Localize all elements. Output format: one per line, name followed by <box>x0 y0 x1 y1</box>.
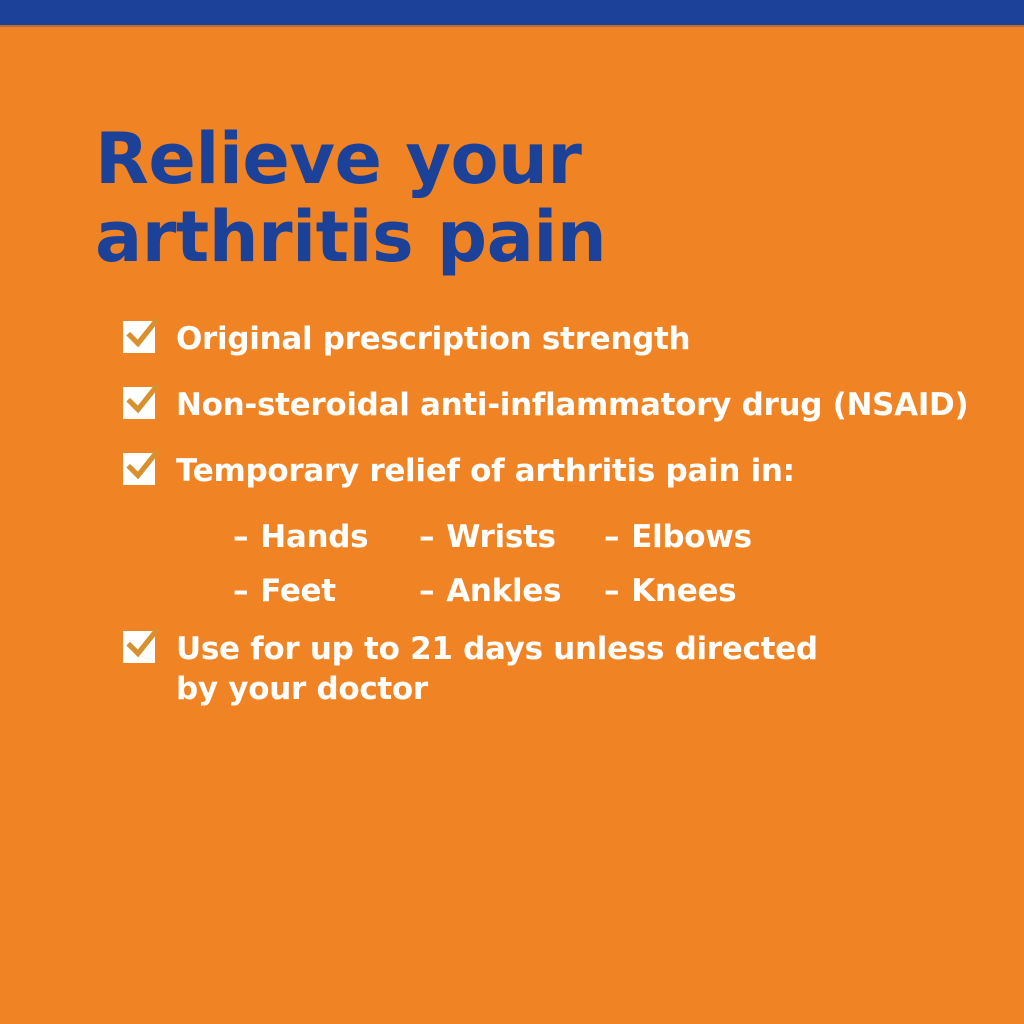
body-part-feet: –Feet <box>233 571 419 611</box>
checklist-item-label: Temporary relief of arthritis pain in: <box>176 451 983 491</box>
checklist-item-temporary-relief: Temporary relief of arthritis pain in: <box>123 451 983 491</box>
body-part-label: Hands <box>260 519 368 555</box>
body-part-wrists: –Wrists <box>419 517 604 557</box>
body-parts-list: –Hands –Wrists –Elbows –Feet –Ankles <box>123 517 823 611</box>
body-part-hands: –Hands <box>233 517 419 557</box>
checklist-item-label: Use for up to 21 days unless directed by… <box>176 629 983 709</box>
poster-canvas: Relieve your arthritis pain Original pre… <box>0 0 1024 1024</box>
body-part-label: Ankles <box>446 573 561 609</box>
body-part-label: Knees <box>631 573 736 609</box>
body-part-label: Wrists <box>446 519 556 555</box>
dash-bullet: – <box>233 573 248 609</box>
top-bar-divider <box>0 25 1024 27</box>
checklist-item-nsaid: Non-steroidal anti-inflammatory drug (NS… <box>123 385 983 425</box>
checklist-item-label: Non-steroidal anti-inflammatory drug (NS… <box>176 385 983 425</box>
checkmark-icon <box>123 631 155 663</box>
checklist-item-prescription-strength: Original prescription strength <box>123 319 983 359</box>
checkmark-icon <box>123 387 155 419</box>
body-part-elbows: –Elbows <box>604 517 784 557</box>
checklist-item-duration: Use for up to 21 days unless directed by… <box>123 629 983 709</box>
dash-bullet: – <box>233 519 248 555</box>
benefits-checklist: Original prescription strength Non-stero… <box>123 319 983 709</box>
dash-bullet: – <box>419 573 434 609</box>
body-part-label: Elbows <box>631 519 752 555</box>
dash-bullet: – <box>419 519 434 555</box>
dash-bullet: – <box>604 519 619 555</box>
page-title: Relieve your arthritis pain <box>95 120 606 276</box>
dash-bullet: – <box>604 573 619 609</box>
body-parts-row: –Feet –Ankles –Knees <box>123 571 823 611</box>
checklist-item-label: Original prescription strength <box>176 319 983 359</box>
body-part-knees: –Knees <box>604 571 784 611</box>
body-part-ankles: –Ankles <box>419 571 604 611</box>
body-part-label: Feet <box>260 573 336 609</box>
body-parts-row: –Hands –Wrists –Elbows <box>123 517 823 557</box>
checkmark-icon <box>123 453 155 485</box>
top-brand-bar <box>0 0 1024 25</box>
checkmark-icon <box>123 321 155 353</box>
